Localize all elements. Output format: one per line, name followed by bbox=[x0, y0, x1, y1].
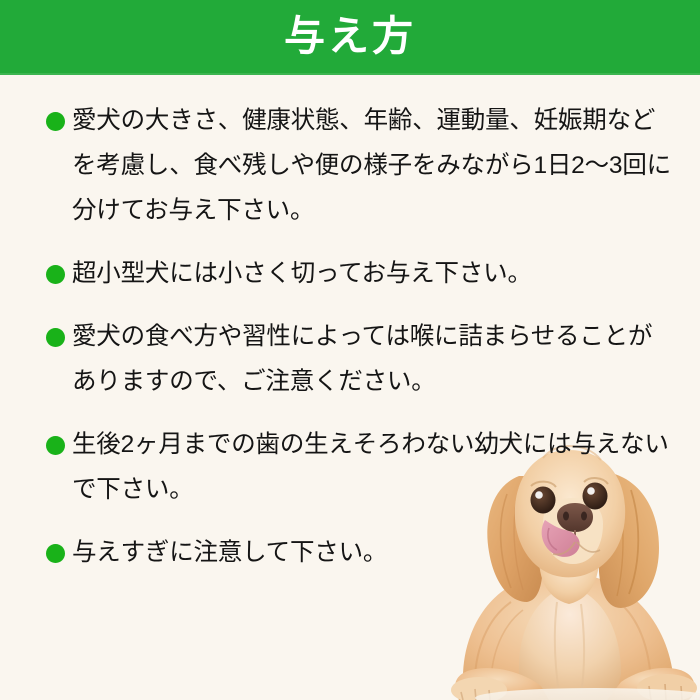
list-item-text: 与えすぎに注意して下さい。 bbox=[72, 530, 674, 575]
list-item-text: 生後2ヶ月までの歯の生えそろわない幼犬には与えないで下さい。 bbox=[72, 422, 674, 512]
list-item: 生後2ヶ月までの歯の生えそろわない幼犬には与えないで下さい。 bbox=[42, 422, 674, 512]
list-item-text: 愛犬の食べ方や習性によっては喉に詰まらせることがありますので、ご注意ください。 bbox=[72, 314, 674, 404]
list-item: 与えすぎに注意して下さい。 bbox=[42, 530, 674, 575]
list-item: 愛犬の大きさ、健康状態、年齢、運動量、妊娠期などを考慮し、食べ残しや便の様子をみ… bbox=[42, 98, 674, 233]
list-item: 愛犬の食べ方や習性によっては喉に詰まらせることがありますので、ご注意ください。 bbox=[42, 314, 674, 404]
list-item: 超小型犬には小さく切ってお与え下さい。 bbox=[42, 251, 674, 296]
header-banner: 与え方 bbox=[0, 0, 700, 75]
instruction-list: 愛犬の大きさ、健康状態、年齢、運動量、妊娠期などを考慮し、食べ残しや便の様子をみ… bbox=[42, 98, 674, 575]
green-circle-bullet-icon bbox=[46, 328, 65, 347]
green-circle-bullet-icon bbox=[46, 265, 65, 284]
page-title: 与え方 bbox=[284, 16, 416, 59]
list-item-text: 愛犬の大きさ、健康状態、年齢、運動量、妊娠期などを考慮し、食べ残しや便の様子をみ… bbox=[72, 98, 674, 233]
green-circle-bullet-icon bbox=[46, 544, 65, 563]
list-item-text: 超小型犬には小さく切ってお与え下さい。 bbox=[72, 251, 674, 296]
feeding-instructions-page: 与え方 bbox=[0, 0, 700, 700]
green-circle-bullet-icon bbox=[46, 112, 65, 131]
green-circle-bullet-icon bbox=[46, 436, 65, 455]
